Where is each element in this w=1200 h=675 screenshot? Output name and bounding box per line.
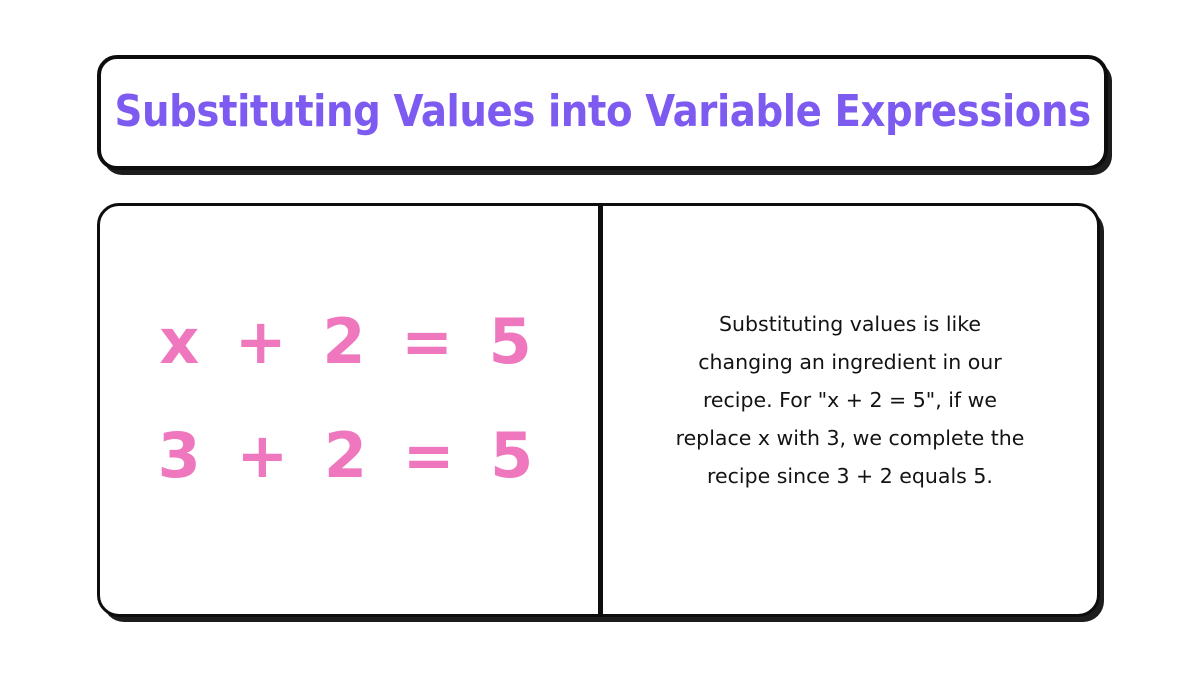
equations-panel: x + 2 = 5 3 + 2 = 5 (100, 206, 598, 614)
explanation-panel: Substituting values is like changing an … (603, 206, 1097, 614)
slide-canvas: Substituting Values into Variable Expres… (0, 0, 1200, 675)
page-title: Substituting Values into Variable Expres… (114, 89, 1090, 135)
equation-original: x + 2 = 5 (159, 311, 539, 373)
equation-substituted: 3 + 2 = 5 (158, 425, 541, 487)
explanation-text: Substituting values is like changing an … (670, 305, 1030, 495)
content-card: x + 2 = 5 3 + 2 = 5 Substituting values … (97, 203, 1100, 617)
title-card: Substituting Values into Variable Expres… (97, 55, 1108, 170)
